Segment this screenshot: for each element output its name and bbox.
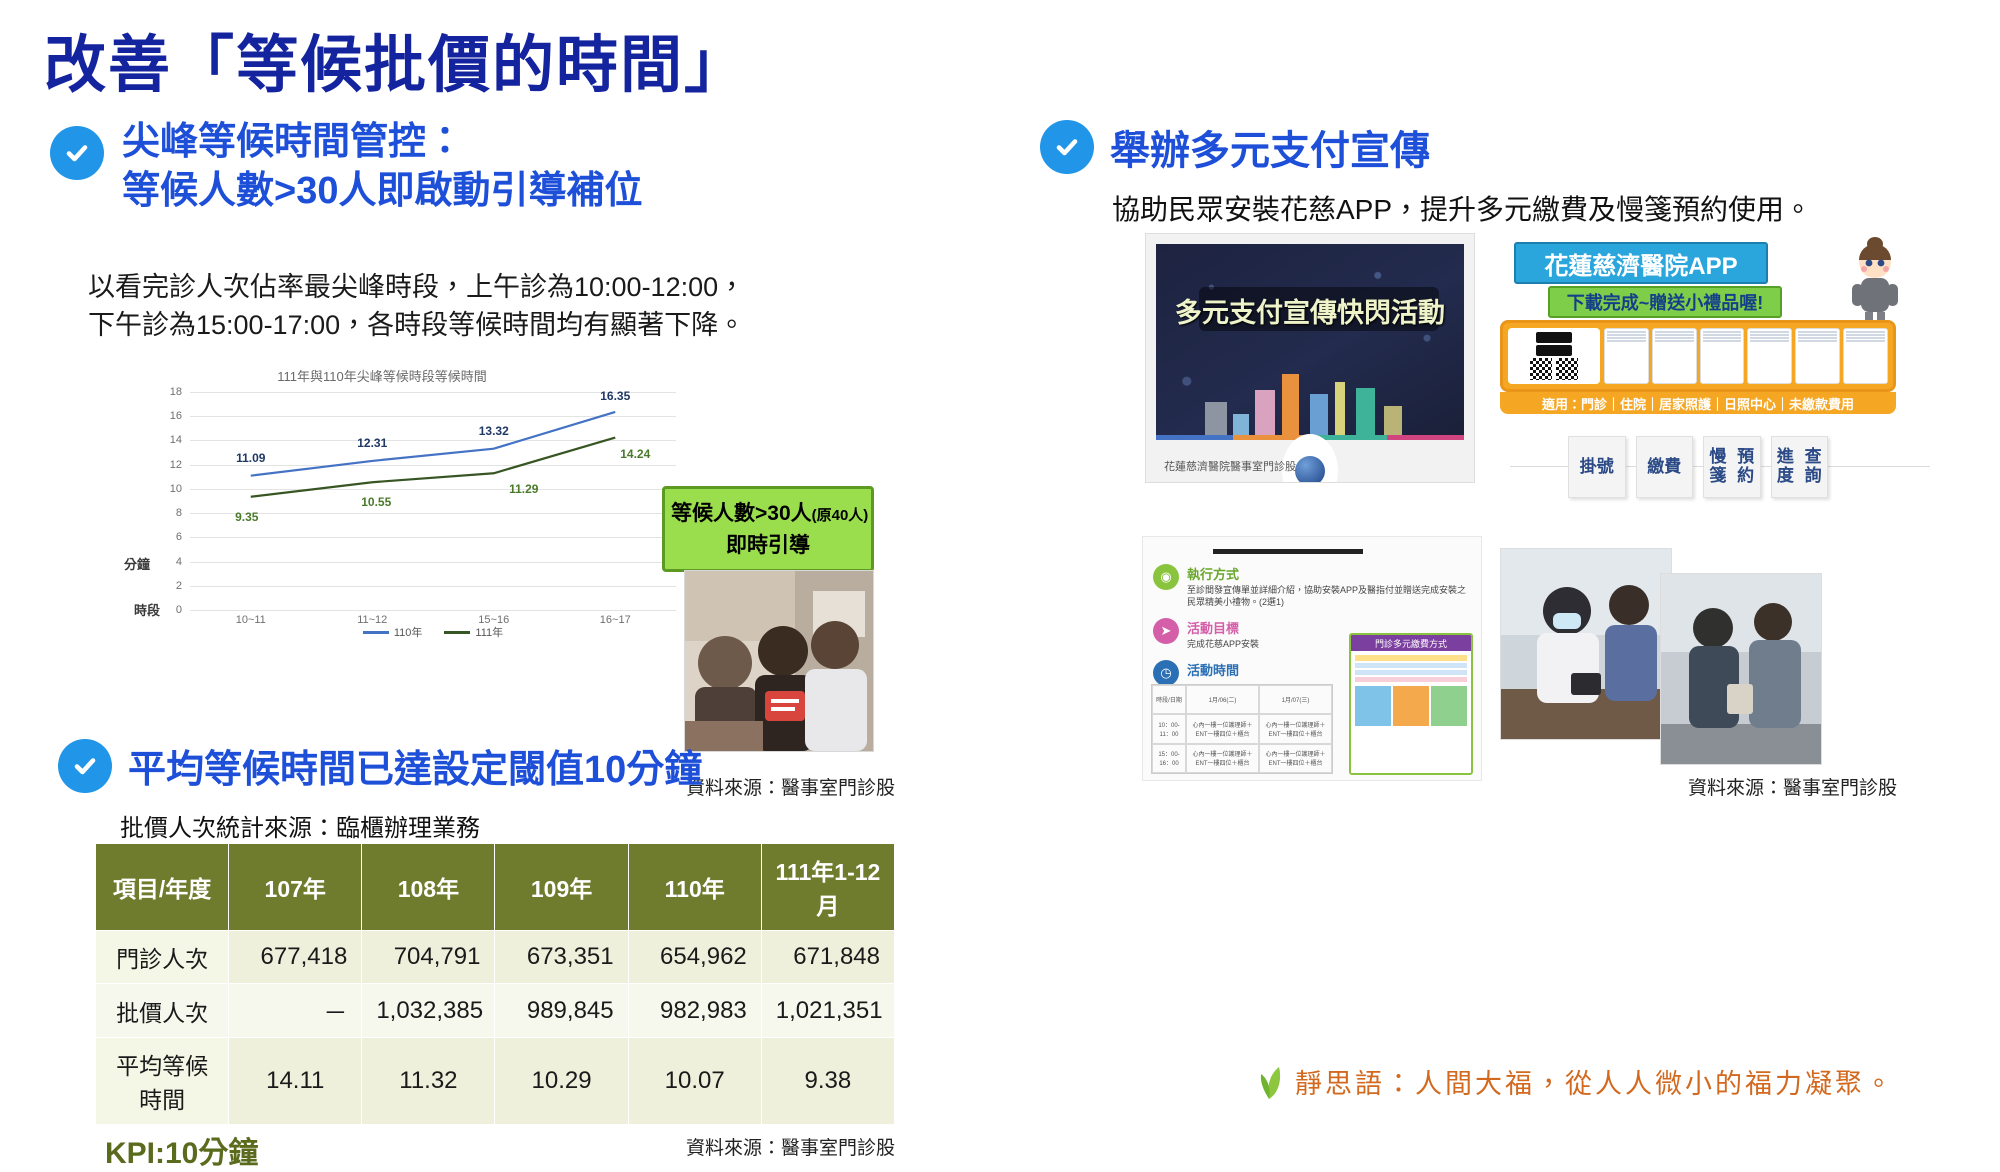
bullet2-label: 平均等候時間已達設定閾值10分鐘 [128,738,702,793]
app-poster-usage-strip: 適用：門診｜住院｜居家照護｜日照中心｜未繳款費用 [1500,392,1896,414]
chart-legend-item: 111年 [444,624,503,640]
right-column: 舉辦多元支付宣傳 協助民眾安裝花慈APP，提升多元繳費及慢箋預約使用。 多元支付… [1020,118,2000,1118]
mini-flyer-title: 門診多元繳費方式 [1351,635,1471,651]
chart-y-tick: 10 [170,483,182,495]
poster2-section1-title: 執行方式 [1187,567,1239,582]
app-step-phone [1604,328,1649,384]
paragraph-line2: 下午診為15:00-17:00，各時段等候時間均有顯著下降。 [88,306,745,344]
chart-data-label: 11.09 [236,451,265,465]
chart-y-tick: 6 [176,531,182,543]
table-header-4: 110年 [628,844,761,931]
guidance-callout-box: 等候人數>30人(原40人) 即時引導 [662,486,874,572]
table-header-0: 項目/年度 [96,844,229,931]
mini-flyer-body [1351,651,1471,730]
chart-legend: 110年111年 [190,624,676,640]
app-function-label: 慢箋 [1704,448,1732,485]
table-cell: 11.32 [362,1038,495,1125]
chart-legend-label: 111年 [475,624,503,640]
app-step-phone [1700,328,1745,384]
bullet3-label: 舉辦多元支付宣傳 [1110,118,1430,176]
table-header-1: 107年 [229,844,362,931]
app-poster-steps [1500,320,1896,392]
chart-legend-swatch [444,631,470,634]
multipay-paragraph: 協助民眾安裝花慈APP，提升多元繳費及慢箋預約使用。 [1112,188,1812,228]
paragraph-line1: 以看完診人次佔率最尖峰時段，上午診為10:00-12:00， [88,268,745,306]
table-header-5: 111年1-12月 [761,844,894,931]
source-label-table: 資料來源：醫事室門診股 [686,1133,895,1160]
qr-code-ios [1530,358,1552,380]
chart-title: 111年與110年尖峰等候時段等候時間 [72,366,692,385]
poster2-section3-title: 活動時間 [1187,660,1239,679]
waiting-time-kpi-table: 項目/年度107年108年109年110年111年1-12月 門診人次677,4… [95,843,895,1125]
table-row: 門診人次677,418704,791673,351654,962671,848 [96,931,895,984]
table-cell: 1,032,385 [362,984,495,1038]
chart-y-tick: 16 [170,410,182,422]
app-poster-subtitle: 下載完成~贈送小禮品喔! [1548,286,1782,318]
kpi-target-label: KPI:10分鐘 [105,1128,258,1172]
source-label-chart: 資料來源：醫事室門診股 [686,773,895,800]
chart-data-label: 9.35 [235,510,258,524]
chart-y-tick: 12 [170,459,182,471]
campaign-slide-thumbnail: 多元支付宣傳快閃活動 花蓮慈濟醫院醫事室門診股 [1145,233,1475,483]
table-row-label: 平均等候時間 [96,1038,229,1125]
paper-plane-icon: ➤ [1153,618,1179,644]
chart-data-label: 14.24 [620,447,650,461]
app-function-box[interactable]: 進度查詢 [1771,436,1829,498]
callout-line1-small: (原40人) [812,507,869,524]
table-cell: 14.11 [229,1038,362,1125]
table-cell: － [229,984,362,1038]
bullet-peak-waiting-control: 尖峰等候時間管控： 等候人數>30人即啟動引導補位 [50,118,642,215]
poster2-accent-bar [1213,549,1363,554]
chart-legend-item: 110年 [363,624,423,640]
chart-y-tick: 4 [176,556,182,568]
schedule-time-cell: 10：00-11：00 [1152,714,1186,743]
schedule-cell: 心內一樓一位護理師＋ENT一樓四位＋櫃台 [1186,744,1259,773]
check-circle-icon [58,739,112,793]
table-source-note: 批價人次統計來源：臨櫃辦理業務 [120,808,480,843]
bullet1-line2: 等候人數>30人即啟動引導補位 [122,167,642,216]
chart-legend-label: 110年 [394,624,423,640]
slide-caption: 花蓮慈濟醫院醫事室門診股 [1164,458,1296,474]
table-body: 門診人次677,418704,791673,351654,962671,848批… [96,931,895,1125]
page-title: 改善「等候批價的時間」 [44,14,748,104]
table-row: 批價人次－1,032,385989,845982,9831,021,351 [96,984,895,1038]
table-header-row: 項目/年度107年108年109年110年111年1-12月 [96,844,895,931]
poster2-mini-flyer: 門診多元繳費方式 [1349,633,1473,775]
patient-assist-photo-2 [1660,573,1822,765]
app-step-phone [1652,328,1697,384]
schedule-cell: 心內一樓一位護理師＋ENT一樓四位＋櫃台 [1186,714,1259,743]
table-cell: 704,791 [362,931,495,984]
schedule-cell: 心內一樓一位護理師＋ENT一樓四位＋櫃台 [1259,744,1332,773]
chart-y-tick: 18 [170,386,182,398]
table-cell: 9.38 [761,1038,894,1125]
clinic-staff-photo [684,570,874,752]
campaign-schedule-grid: 時段/日期1月/06(二)1月/07(三)10：00-11：00心內一樓一位護理… [1151,684,1333,774]
bullet1-line1: 尖峰等候時間管控： [122,118,642,167]
campaign-plan-poster: ◉ 執行方式 至診間發宣傳單並詳細介紹，協助安裝APP及醫指付並贈送完成安裝之民… [1142,536,1482,781]
location-pin-icon: ◉ [1153,564,1179,590]
app-function-label: 查詢 [1799,448,1827,485]
table-cell: 654,962 [628,931,761,984]
poster2-section2-text: 完成花慈APP安裝 [1187,638,1259,650]
schedule-header-cell: 1月/06(二) [1186,685,1259,714]
table-cell: 982,983 [628,984,761,1038]
table-row-label: 批價人次 [96,984,229,1038]
chart-series-svg [190,392,676,610]
app-function-box[interactable]: 慢箋預約 [1703,436,1761,498]
left-column: 尖峰等候時間管控： 等候人數>30人即啟動引導補位 以看完診人次佔率最尖峰時段，… [0,118,1000,1118]
schedule-header-cell: 時段/日期 [1152,685,1186,714]
check-circle-icon [1040,120,1094,174]
chart-gridline [190,610,676,611]
chart-y-tick: 2 [176,580,182,592]
table-cell: 671,848 [761,931,894,984]
city-skyline-graphic [1156,368,1464,440]
app-step-phone [1795,328,1840,384]
clock-icon: ◷ [1153,660,1179,686]
app-step-phone [1747,328,1792,384]
chart-y-tick: 14 [170,434,182,446]
schedule-cell: 心內一樓一位護理師＋ENT一樓四位＋櫃台 [1259,714,1332,743]
chart-data-label: 12.31 [357,436,387,450]
chart-x-axis-label: 時段 [134,600,160,619]
bullet1-text-block: 尖峰等候時間管控： 等候人數>30人即啟動引導補位 [122,118,642,215]
patient-assist-photo-1 [1500,548,1672,740]
app-function-label: 掛號 [1580,458,1614,477]
callout-line2: 即時引導 [671,529,865,559]
app-function-label: 進度 [1772,448,1800,485]
table-cell: 10.29 [495,1038,628,1125]
google-play-badge [1536,345,1572,356]
chart-plot-area: 02468101214161810~1111~1215~1616~1711.09… [190,392,676,610]
leaf-icon [1255,1065,1285,1099]
waiting-time-line-chart: 111年與110年尖峰等候時段等候時間 分鐘 時段 02468101214161… [72,366,692,664]
table-cell: 1,021,351 [761,984,894,1038]
slide-dark-background: 多元支付宣傳快閃活動 [1156,244,1464,440]
table-cell: 677,418 [229,931,362,984]
bullet-multipay-campaign: 舉辦多元支付宣傳 [1040,118,1430,176]
chart-y-tick: 8 [176,507,182,519]
chart-line-111年 [251,438,616,497]
footer-quote: 靜思語：人間大福，從人人微小的福力凝聚。 [1255,1062,1895,1101]
app-step-phones [1604,328,1888,384]
app-function-label: 繳費 [1647,458,1681,477]
table-cell: 10.07 [628,1038,761,1125]
chart-y-tick: 0 [176,604,182,616]
quote-text: 靜思語：人間大福，從人人微小的福力凝聚。 [1295,1062,1895,1101]
app-function-box[interactable]: 掛號 [1568,436,1626,498]
app-store-card [1508,328,1600,384]
app-function-label: 預約 [1732,448,1760,485]
assist-photo-1-illustration [1501,549,1671,739]
chart-line-110年 [251,412,616,476]
callout-line1: 等候人數>30人(原40人) [671,497,865,527]
callout-line1-main: 等候人數>30人 [671,502,812,525]
app-function-box[interactable]: 繳費 [1636,436,1694,498]
app-store-badge [1536,332,1572,343]
schedule-header-cell: 1月/07(三) [1259,685,1332,714]
schedule-time-cell: 15：00-16：00 [1152,744,1186,773]
bullet-average-waiting-threshold: 平均等候時間已達設定閾值10分鐘 [58,738,702,793]
poster2-section1-text: 至診間發宣傳單並詳細介紹，協助安裝APP及醫指付並贈送完成安裝之民眾精美小禮物。… [1187,584,1471,608]
source-label-right: 資料來源：醫事室門診股 [1688,773,1897,800]
assist-photo-2-illustration [1661,574,1821,764]
app-function-boxes: 掛號繳費慢箋預約進度查詢 [1568,436,1828,498]
peak-period-paragraph: 以看完診人次佔率最尖峰時段，上午診為10:00-12:00， 下午診為15:00… [88,268,745,345]
table-header-3: 109年 [495,844,628,931]
chart-data-label: 11.29 [509,482,538,496]
app-step-phone [1843,328,1888,384]
table-header-2: 108年 [362,844,495,931]
table-row-label: 門診人次 [96,931,229,984]
chart-data-label: 10.55 [361,495,391,509]
table-cell: 673,351 [495,931,628,984]
hospital-app-poster: 花蓮慈濟醫院APP 下載完成~贈送小禮品喔! [1490,236,1910,436]
clinic-photo-illustration [685,571,873,751]
check-circle-icon [50,126,104,180]
mascot-girl-icon [1848,236,1902,328]
slide-title-text: 多元支付宣傳快閃活動 [1156,291,1464,330]
app-poster-title: 花蓮慈濟醫院APP [1514,242,1768,284]
chart-y-axis-label: 分鐘 [124,554,150,573]
table-row: 平均等候時間14.1111.3210.2910.079.38 [96,1038,895,1125]
poster2-section-execution: ◉ 執行方式 至診間發宣傳單並詳細介紹，協助安裝APP及醫指付並贈送完成安裝之民… [1153,564,1471,608]
chart-legend-swatch [363,631,389,634]
slide-root: 改善「等候批價的時間」 尖峰等候時間管控： 等候人數>30人即啟動引導補位 以看… [0,0,2000,1125]
poster2-section2-title: 活動目標 [1187,621,1239,636]
chart-data-label: 16.35 [600,389,630,403]
qr-code-android [1556,358,1578,380]
table-cell: 989,845 [495,984,628,1038]
chart-data-label: 13.32 [479,424,509,438]
